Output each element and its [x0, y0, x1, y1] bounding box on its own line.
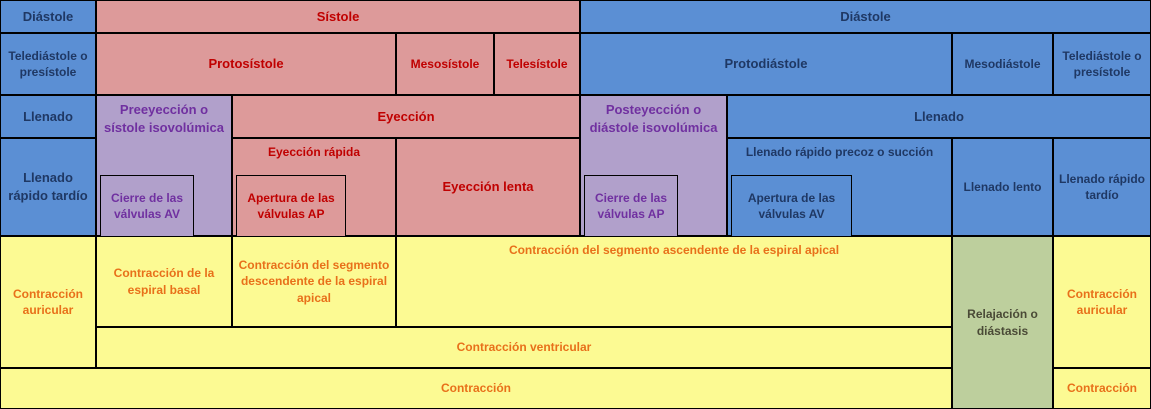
row2-protodiastole: Protodiástole	[580, 33, 952, 95]
row4-cierre-valvulas-av: Cierre de las válvulas AV	[100, 175, 194, 236]
row4-apertura-valvulas-ap: Apertura de las válvulas AP	[236, 175, 346, 236]
row1-diastole-right: Diástole	[580, 0, 1151, 33]
row2-telediastole-left: Telediástole o presístole	[0, 33, 96, 95]
row7-contraccion: Contracción	[0, 368, 952, 409]
row3-llenado-right: Llenado	[727, 95, 1151, 138]
row5-contraccion-auricular-left: Contracción auricular	[0, 236, 96, 368]
row6-contraccion-ventricular: Contracción ventricular	[96, 327, 952, 368]
row1-sistole: Sístole	[96, 0, 580, 33]
cardiac-cycle-diagram: Diástole Sístole Diástole Telediástole o…	[0, 0, 1151, 409]
row2-mesosistole: Mesosístole	[396, 33, 494, 95]
row7-contraccion-right: Contracción	[1053, 368, 1151, 409]
row2-mesodiastole: Mesodiástole	[952, 33, 1053, 95]
row4-llenado-rapido-tardio-left: Llenado rápido tardío	[0, 138, 96, 236]
row1-diastole-left: Diástole	[0, 0, 96, 33]
row5-contraccion-espiral-basal: Contracción de la espiral basal	[96, 236, 232, 327]
row5-contraccion-auricular-right: Contracción auricular	[1053, 236, 1151, 368]
row4-eyeccion-lenta: Eyección lenta	[396, 138, 580, 236]
row5-contraccion-segmento-descendente: Contracción del segmento descendente de …	[232, 236, 396, 327]
row4-llenado-lento: Llenado lento	[952, 138, 1053, 236]
row2-telediastole-right: Telediástole o presístole	[1053, 33, 1151, 95]
row3-llenado-left: Llenado	[0, 95, 96, 138]
row5-contraccion-segmento-ascendente: Contracción del segmento ascendente de l…	[396, 236, 952, 327]
row2-protosistole: Protosístole	[96, 33, 396, 95]
row2-telesistole: Telesístole	[494, 33, 580, 95]
row5-relajacion-diastasis: Relajación o diástasis	[952, 236, 1053, 409]
row4-cierre-valvulas-ap: Cierre de las válvulas AP	[584, 175, 678, 236]
row4-llenado-rapido-tardio-right: Llenado rápido tardío	[1053, 138, 1151, 236]
row4-apertura-valvulas-av: Apertura de las válvulas AV	[731, 175, 852, 236]
row3-eyeccion: Eyección	[232, 95, 580, 138]
